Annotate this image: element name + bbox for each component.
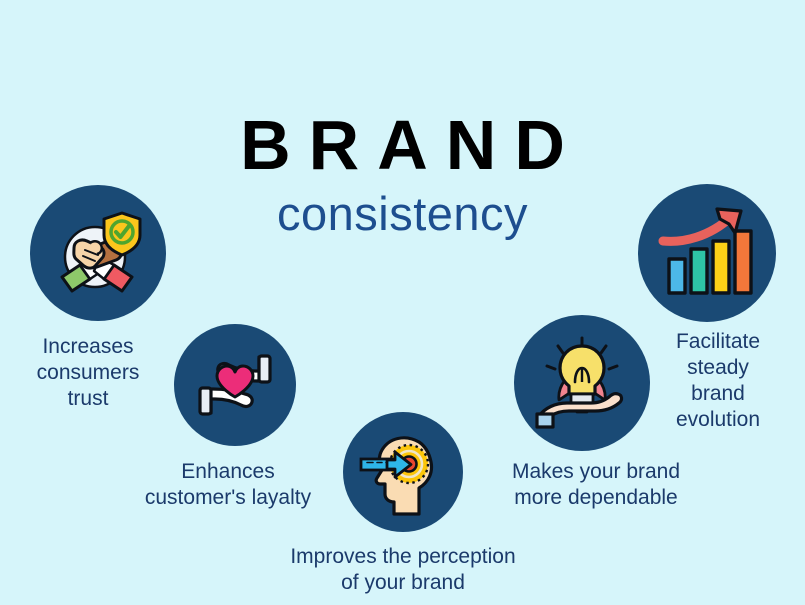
- handshake-shield-icon: [50, 205, 146, 301]
- caption-perception: Improves the perception of your brand: [253, 544, 553, 596]
- hand-lightbulb-icon: [533, 334, 631, 432]
- node-circle-trust: [30, 185, 166, 321]
- node-circle-dependable: [514, 315, 650, 451]
- node-circle-perception: [343, 412, 463, 532]
- caption-evolution: Facilitate steady brand evolution: [640, 329, 796, 433]
- node-circle-loyalty: [174, 324, 296, 446]
- node-circle-evolution: [638, 184, 776, 322]
- growth-bar-chart-icon: [657, 203, 757, 303]
- hands-heart-icon: [193, 343, 277, 427]
- caption-trust: Increases consumers trust: [0, 334, 176, 412]
- caption-loyalty: Enhances customer's layalty: [112, 459, 344, 511]
- page-title: BRAND: [0, 108, 805, 182]
- caption-dependable: Makes your brand more dependable: [480, 459, 712, 511]
- brand-consistency-infographic: BRAND consistency: [0, 0, 805, 605]
- head-target-arrow-icon: [357, 426, 449, 518]
